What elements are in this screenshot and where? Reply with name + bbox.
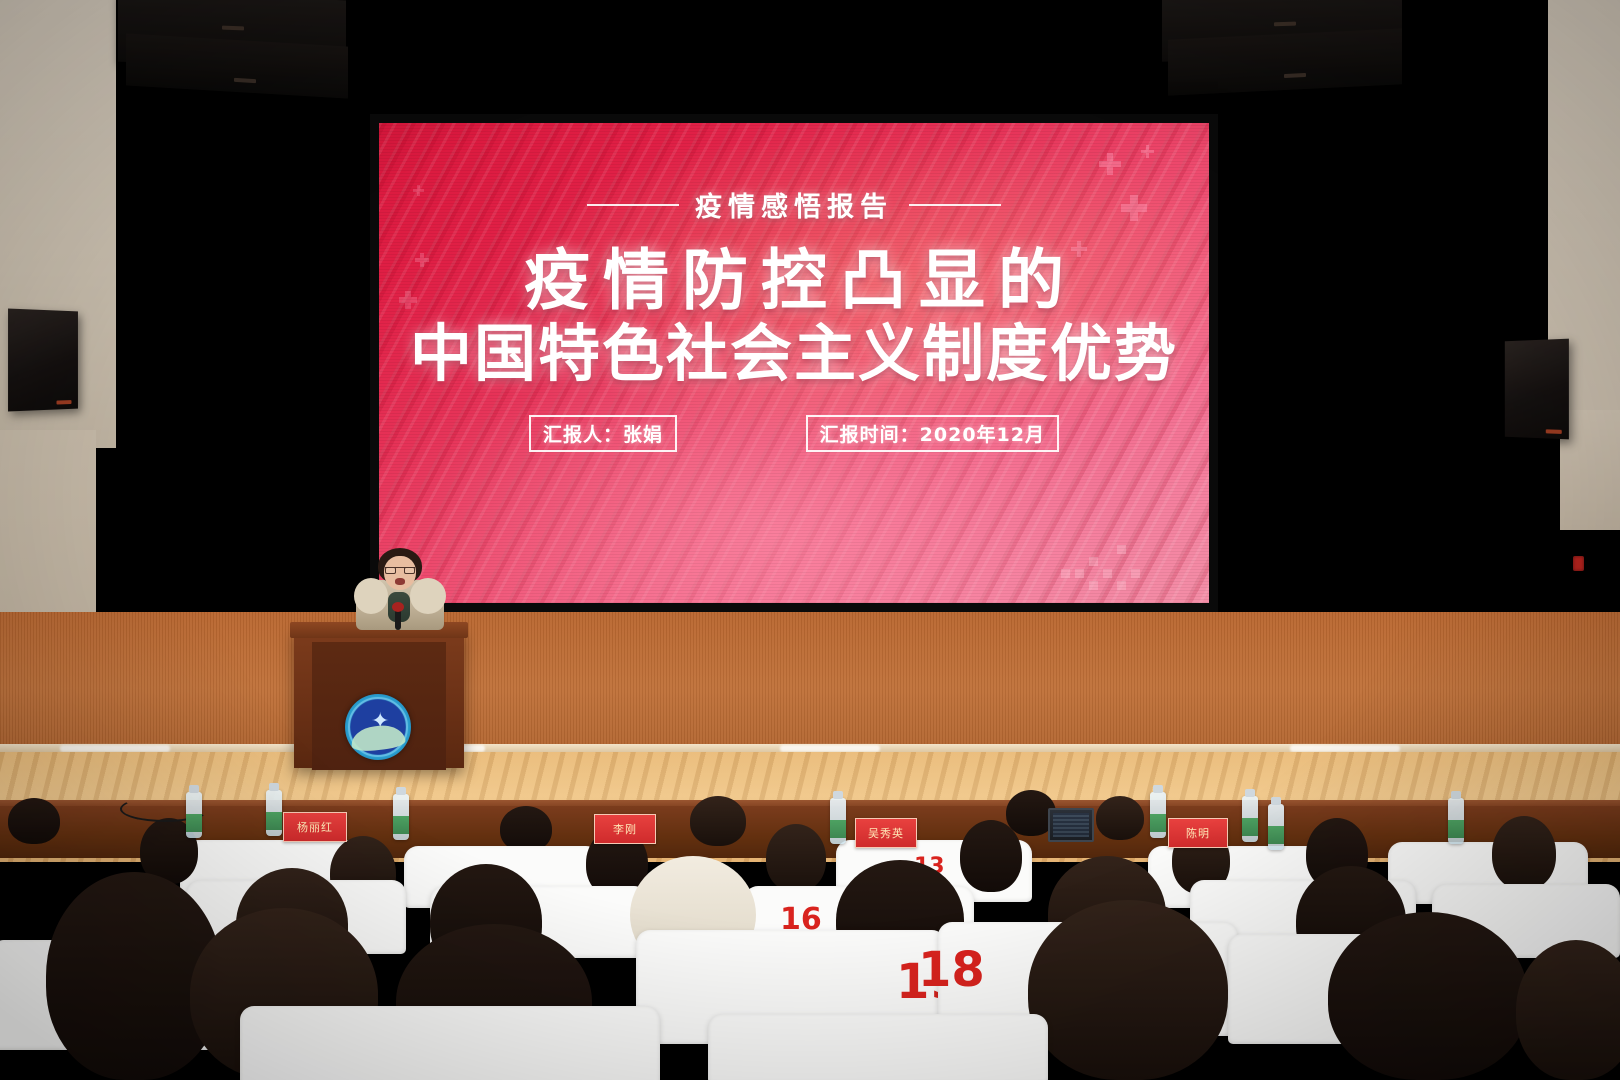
water-bottle [1268, 804, 1284, 850]
water-bottle [1448, 798, 1464, 844]
institution-emblem-icon: ✦ [345, 694, 411, 760]
audience-head [1492, 816, 1556, 890]
slide-title-line-2: 中国特色社会主义制度优势 [410, 321, 1178, 386]
ceiling-speaker-icon [1168, 28, 1402, 95]
slide-presenter-label: 汇报人：张娟 [529, 415, 677, 452]
fire-alarm-icon [1573, 556, 1584, 571]
water-bottle [393, 794, 409, 840]
audience-head-foreground [1328, 912, 1528, 1080]
slide-title-line-1: 疫情防控凸显的 [511, 246, 1077, 315]
presenter-mouth [395, 578, 405, 585]
audience-head [690, 796, 746, 846]
eyebrow-line-right [909, 204, 1001, 206]
name-card: 杨丽红 [283, 812, 347, 842]
audience-head [960, 820, 1022, 892]
presenter-fur-collar-right [410, 578, 446, 614]
name-card: 陈明 [1168, 818, 1228, 848]
name-card: 吴秀英 [855, 818, 917, 848]
floor-glint [1290, 745, 1400, 752]
audience-head [766, 824, 826, 892]
seat-cover [240, 1006, 660, 1080]
presenter-fur-collar-left [354, 578, 388, 614]
eyebrow-line-left [587, 204, 679, 206]
stage-back-wall [0, 612, 1620, 750]
slide-date-label: 汇报时间：2020年12月 [806, 415, 1059, 452]
water-bottle [1150, 792, 1166, 838]
audience-head [8, 798, 60, 844]
wall-speaker-icon [8, 309, 78, 412]
audience-head [1096, 796, 1144, 840]
slide-meta-row: 汇报人：张娟 汇报时间：2020年12月 [379, 415, 1209, 452]
seat-number: 18 [918, 942, 985, 998]
laptop [1048, 808, 1094, 842]
led-screen: 疫情感悟报告 疫情防控凸显的 中国特色社会主义制度优势 汇报人：张娟 汇报时间：… [370, 114, 1218, 612]
microphone-head-icon [392, 602, 404, 612]
water-bottle [186, 792, 202, 838]
presenter-speaker [352, 548, 448, 630]
seat-cover [708, 1014, 1048, 1080]
conference-hall-photo: 疫情感悟报告 疫情防控凸显的 中国特色社会主义制度优势 汇报人：张娟 汇报时间：… [0, 0, 1620, 1080]
slide-eyebrow-row: 疫情感悟报告 [587, 185, 1001, 224]
presentation-slide: 疫情感悟报告 疫情防控凸显的 中国特色社会主义制度优势 汇报人：张娟 汇报时间：… [379, 123, 1209, 603]
water-bottle [830, 798, 846, 844]
floor-glint [780, 745, 880, 752]
water-bottle [1242, 796, 1258, 842]
water-bottle [266, 790, 282, 836]
glasses-icon [385, 567, 415, 573]
audience-head-foreground [1516, 940, 1620, 1080]
right-wall-panel-lower [1560, 410, 1620, 530]
wall-speaker-icon [1505, 339, 1569, 440]
audience-head-foreground [1028, 900, 1228, 1080]
floor-glint [60, 745, 170, 752]
name-card: 李刚 [594, 814, 656, 844]
slide-eyebrow: 疫情感悟报告 [695, 185, 893, 224]
